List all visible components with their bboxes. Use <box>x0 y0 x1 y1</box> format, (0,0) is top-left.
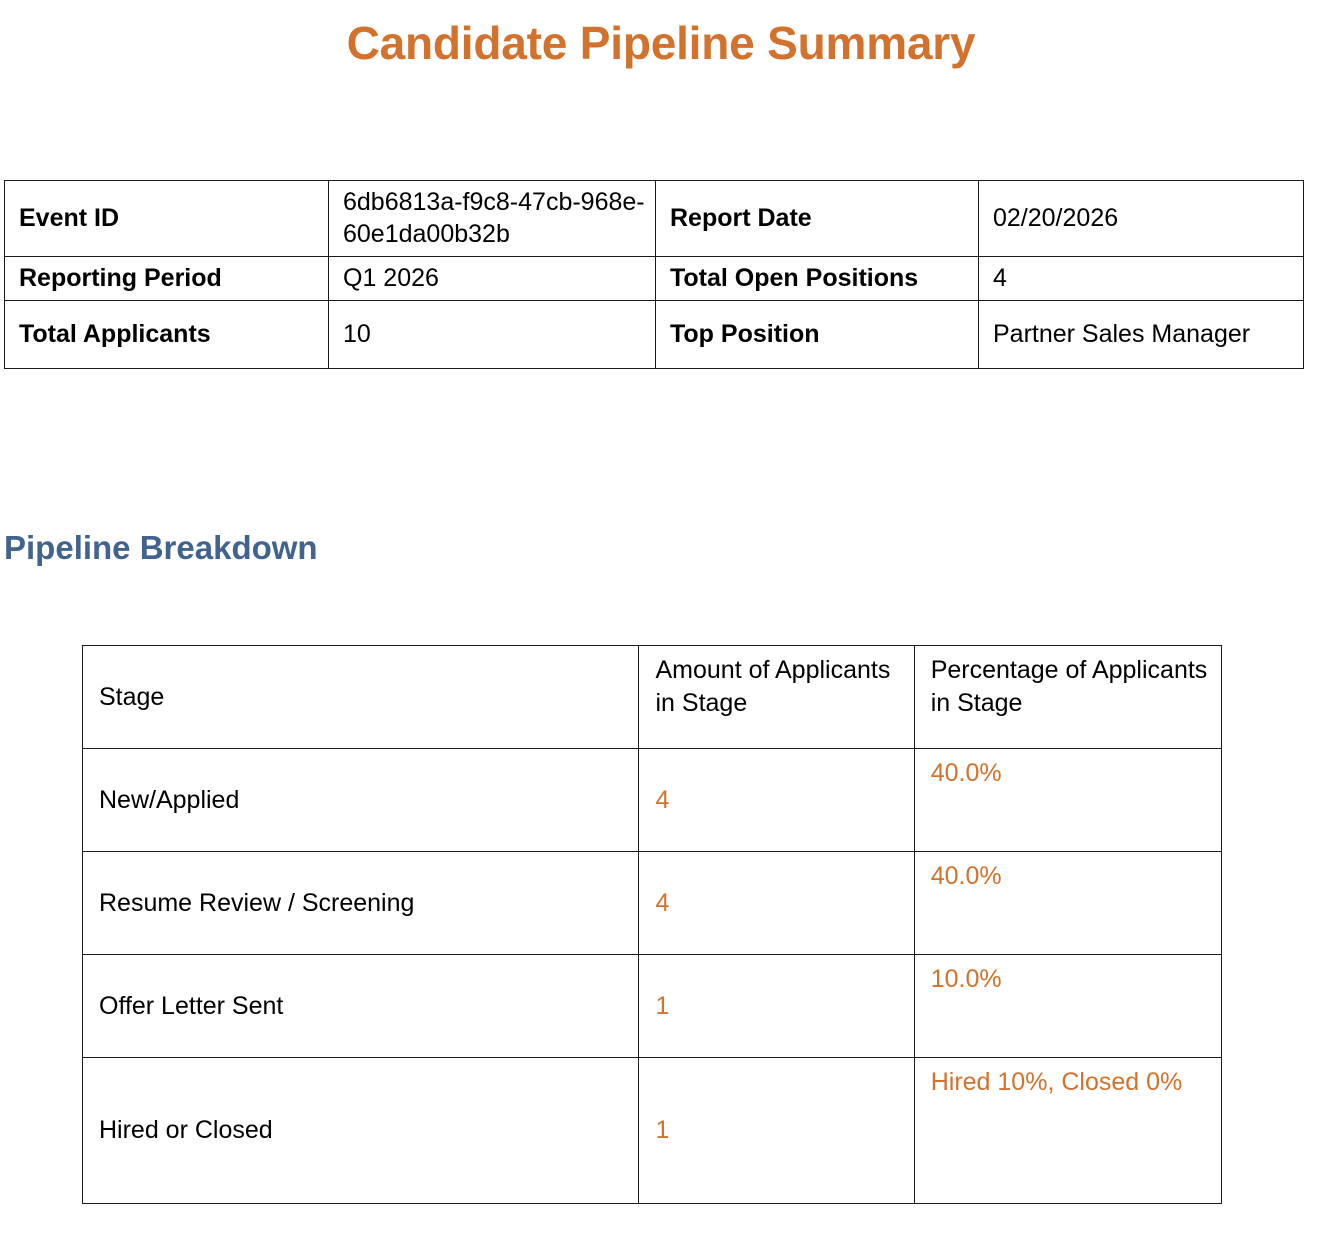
info-label-total-applicants: Total Applicants <box>5 301 329 369</box>
stage-name: Offer Letter Sent <box>83 955 639 1058</box>
stage-amount: 4 <box>639 749 914 852</box>
stage-amount: 1 <box>639 1058 914 1204</box>
table-row: Resume Review / Screening 4 40.0% <box>83 852 1222 955</box>
table-row: Offer Letter Sent 1 10.0% <box>83 955 1222 1058</box>
section-heading-pipeline-breakdown: Pipeline Breakdown <box>4 528 318 568</box>
info-label-reporting-period: Reporting Period <box>5 257 329 301</box>
table-row: Total Applicants 10 Top Position Partner… <box>5 301 1304 369</box>
info-value-reporting-period: Q1 2026 <box>329 257 656 301</box>
info-value-report-date: 02/20/2026 <box>979 181 1304 257</box>
info-label-report-date: Report Date <box>656 181 979 257</box>
column-header-percentage: Percentage of Applicants in Stage <box>914 646 1221 749</box>
info-value-total-applicants: 10 <box>329 301 656 369</box>
stage-name: New/Applied <box>83 749 639 852</box>
column-header-stage: Stage <box>83 646 639 749</box>
column-header-amount: Amount of Applicants in Stage <box>639 646 914 749</box>
stage-amount: 4 <box>639 852 914 955</box>
summary-info-table: Event ID 6db6813a-f9c8-47cb-968e-60e1da0… <box>4 180 1304 369</box>
info-label-event-id: Event ID <box>5 181 329 257</box>
table-row: Hired or Closed 1 Hired 10%, Closed 0% <box>83 1058 1222 1204</box>
stage-percentage: 40.0% <box>914 749 1221 852</box>
table-row: Reporting Period Q1 2026 Total Open Posi… <box>5 257 1304 301</box>
stage-name: Resume Review / Screening <box>83 852 639 955</box>
stage-amount: 1 <box>639 955 914 1058</box>
page-title: Candidate Pipeline Summary <box>0 17 1322 70</box>
info-value-total-open-positions: 4 <box>979 257 1304 301</box>
info-value-top-position: Partner Sales Manager <box>979 301 1304 369</box>
table-row: New/Applied 4 40.0% <box>83 749 1222 852</box>
stage-percentage: Hired 10%, Closed 0% <box>914 1058 1221 1204</box>
info-label-total-open-positions: Total Open Positions <box>656 257 979 301</box>
info-value-event-id: 6db6813a-f9c8-47cb-968e-60e1da00b32b <box>329 181 656 257</box>
stage-name: Hired or Closed <box>83 1058 639 1204</box>
stage-percentage: 10.0% <box>914 955 1221 1058</box>
stage-percentage: 40.0% <box>914 852 1221 955</box>
table-header-row: Stage Amount of Applicants in Stage Perc… <box>83 646 1222 749</box>
pipeline-breakdown-table: Stage Amount of Applicants in Stage Perc… <box>82 645 1222 1204</box>
info-label-top-position: Top Position <box>656 301 979 369</box>
table-row: Event ID 6db6813a-f9c8-47cb-968e-60e1da0… <box>5 181 1304 257</box>
